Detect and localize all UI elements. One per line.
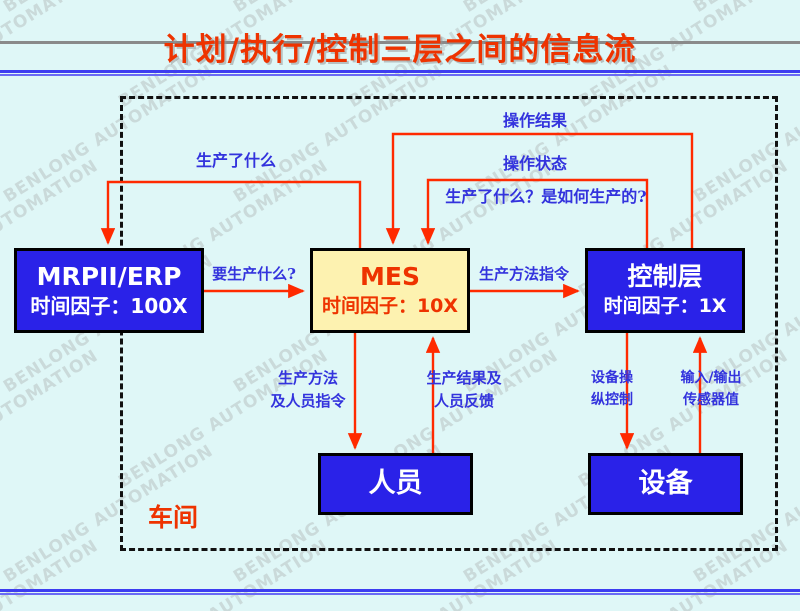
label-mes-to-people-line2: 及人员指令 (256, 393, 360, 410)
box-control-layer[interactable]: 控制层 时间因子：1X (585, 248, 745, 333)
box-mrpii-erp[interactable]: MRPⅠⅠ/ERP 时间因子：100X (14, 248, 204, 333)
shopfloor-label: 车间 (148, 498, 198, 534)
label-people-to-mes-line2: 人员反馈 (414, 393, 514, 410)
label-ctrl-to-mes-question: 生产了什么？是如何生产的? (416, 188, 676, 206)
label-mes-to-ctrl: 生产方法指令 (468, 266, 580, 283)
label-equip-to-ctrl-line1: 输入/输出 (663, 371, 759, 387)
box-equipment-title: 设备 (639, 470, 693, 498)
label-mes-to-erp: 生产了什么 (136, 152, 336, 170)
box-mrpii-erp-title: MRPⅠⅠ/ERP (37, 264, 182, 290)
box-equipment[interactable]: 设备 (588, 453, 743, 515)
label-ctrl-to-equip-line2: 纵控制 (572, 393, 652, 409)
box-mes-subtitle: 时间因子：10X (322, 297, 458, 317)
label-equip-to-ctrl-line2: 传感器值 (663, 393, 759, 409)
label-ctrl-to-equip-line1: 设备操 (572, 371, 652, 387)
box-mes-title: MES (360, 264, 420, 290)
box-control-layer-subtitle: 时间因子：1X (604, 297, 727, 317)
label-erp-to-mes: 要生产什么? (203, 266, 305, 283)
box-people[interactable]: 人员 (318, 453, 473, 515)
label-mes-to-people-line1: 生产方法 (262, 370, 354, 387)
slide-canvas: BENLONG AUTOMATIONBENLONG AUTOMATIONBENL… (0, 0, 800, 611)
label-people-to-mes-line1: 生产结果及 (409, 370, 519, 387)
box-mes[interactable]: MES 时间因子：10X (310, 248, 470, 333)
label-ctrl-to-mes-result: 操作结果 (435, 112, 635, 130)
box-control-layer-title: 控制层 (627, 264, 702, 290)
box-mrpii-erp-subtitle: 时间因子：100X (30, 296, 187, 317)
box-people-title: 人员 (369, 470, 423, 498)
label-ctrl-to-mes-status: 操作状态 (435, 155, 635, 173)
